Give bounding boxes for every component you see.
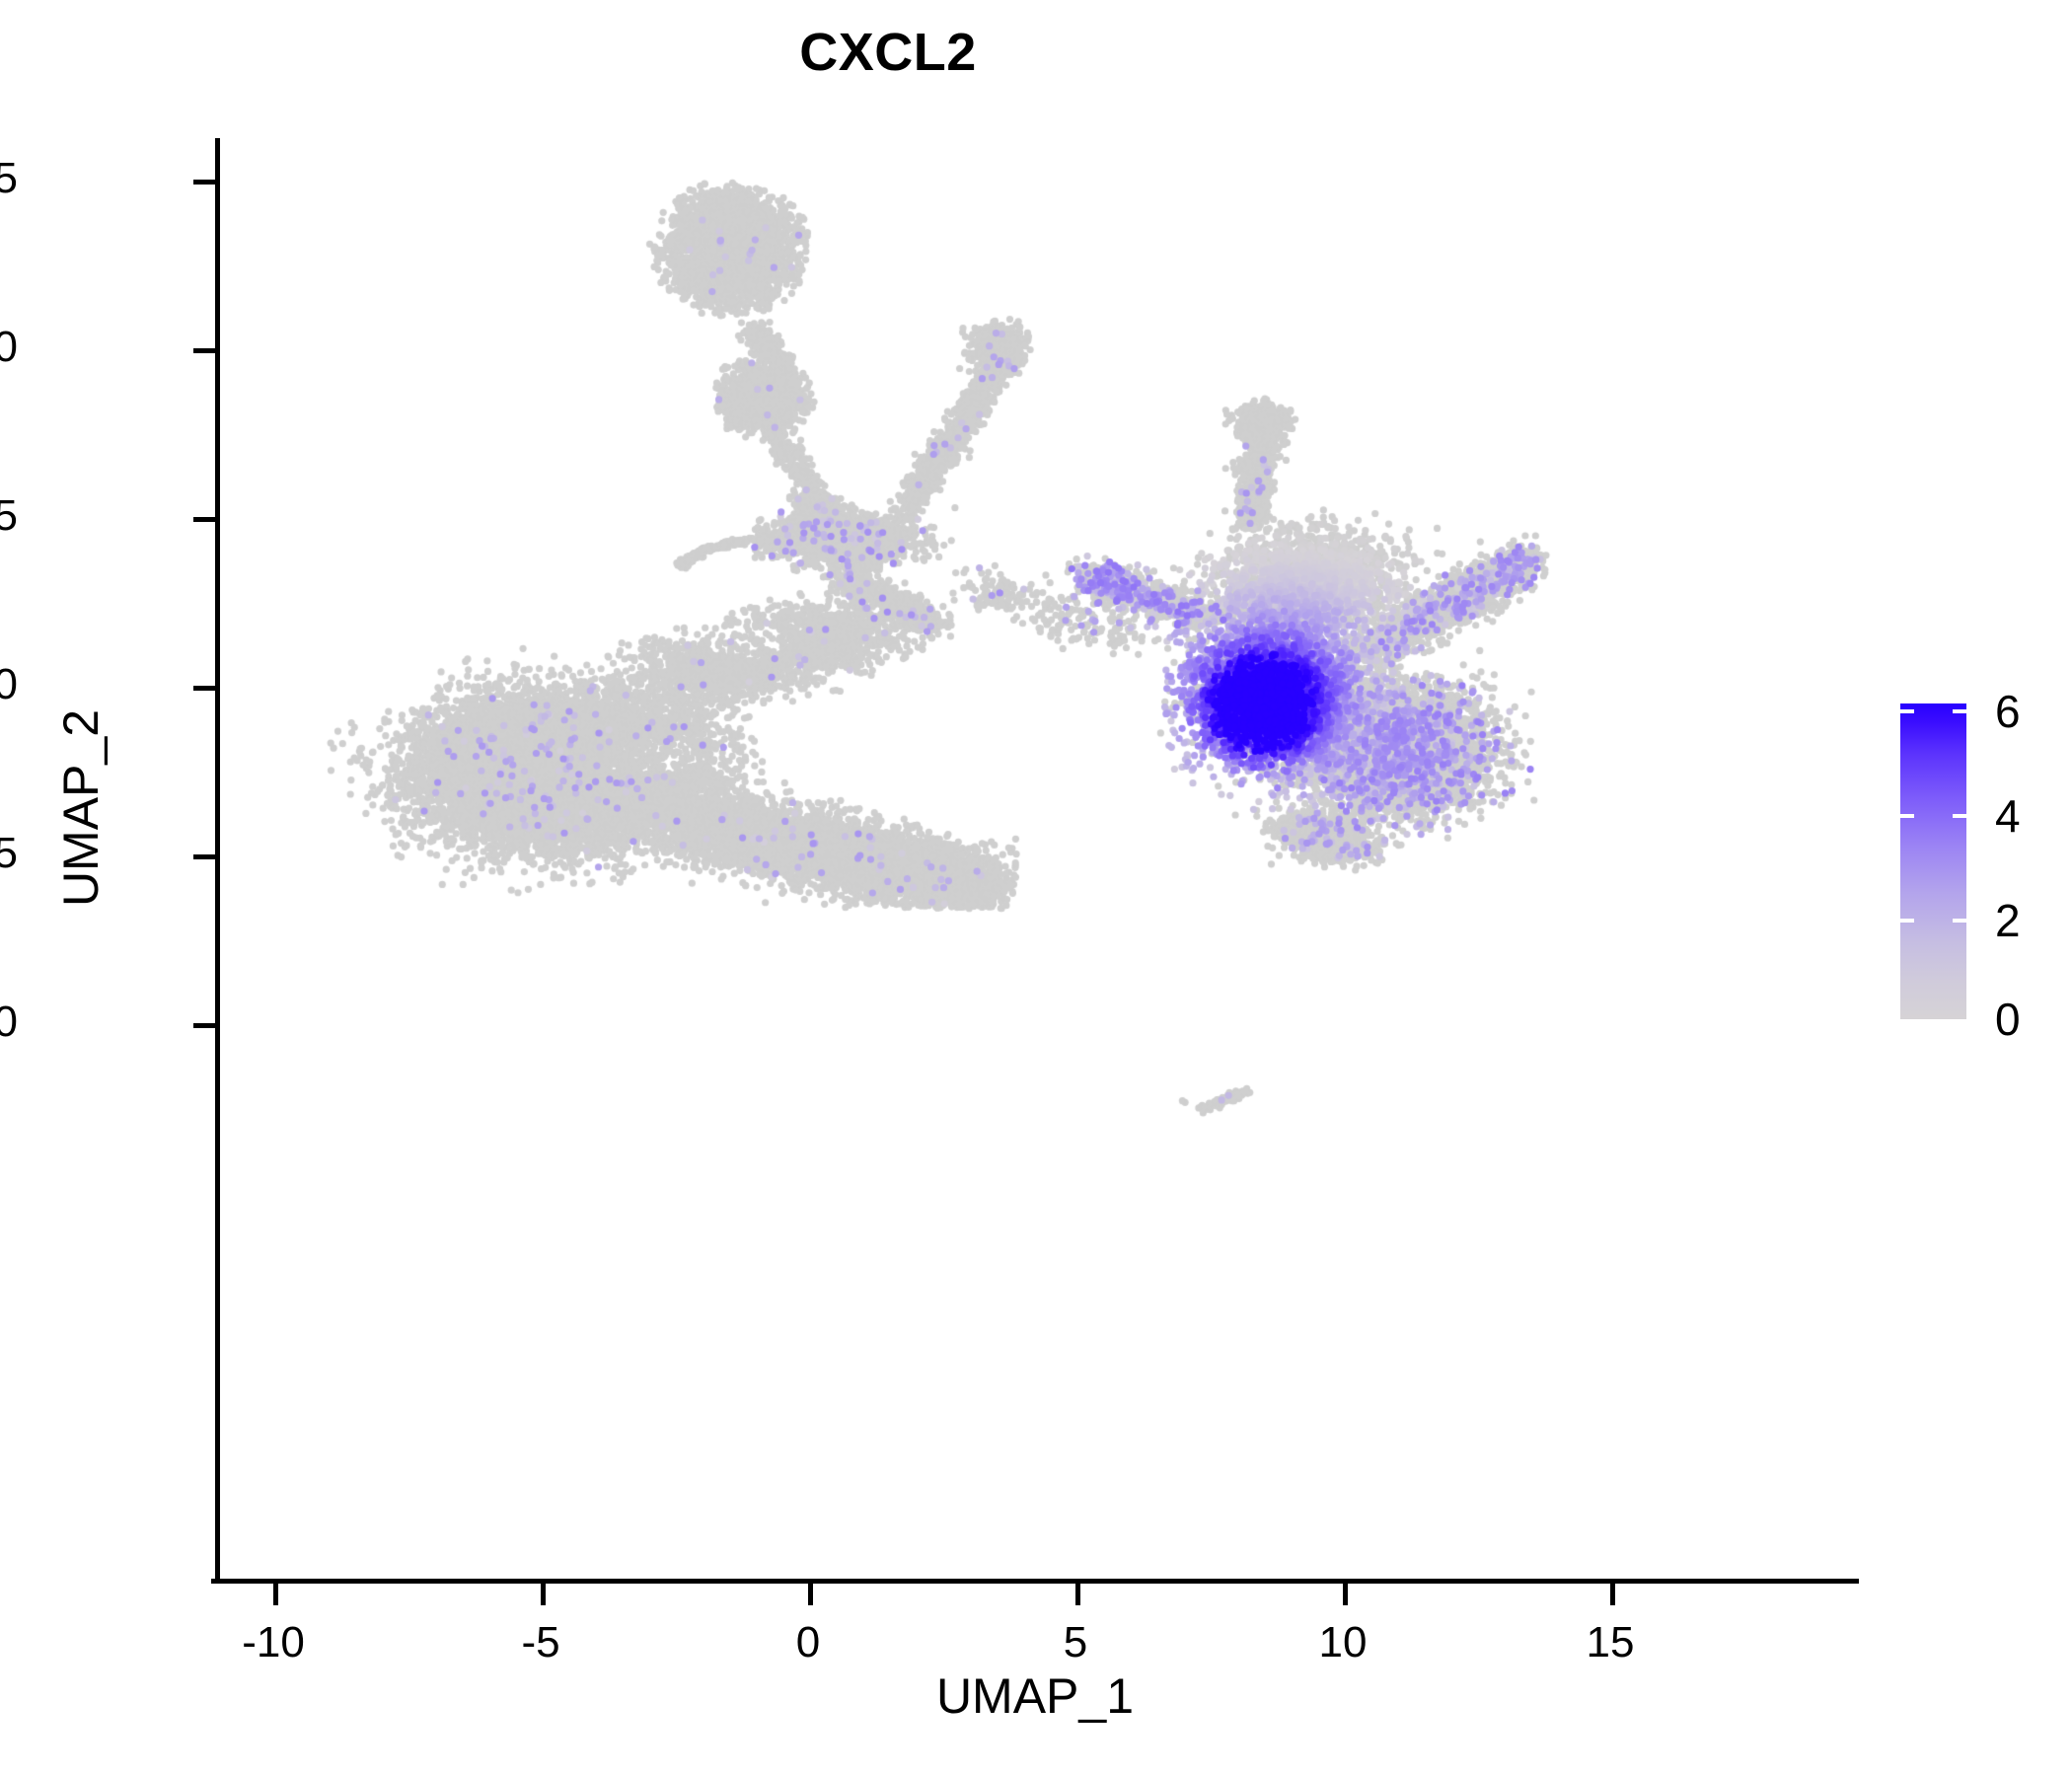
- y-tick-label-5: 5: [0, 491, 18, 541]
- x-tick-0: [808, 1584, 813, 1605]
- colorbar-label-2: 2: [1995, 894, 2021, 947]
- colorbar-label-4: 4: [1995, 789, 2021, 843]
- umap-feature-plot: CXCL2 15 10 5 0 -5 -10 -10 -5 0 5 10 15 …: [0, 0, 2072, 1776]
- x-tick-label-0: 0: [729, 1618, 887, 1667]
- plot-area: [217, 138, 1855, 1582]
- y-tick-label-15: 15: [0, 154, 18, 203]
- page-title: CXCL2: [0, 22, 1776, 83]
- y-axis-title: UMAP_2: [52, 611, 110, 1005]
- y-tick-neg10: [193, 1023, 215, 1028]
- y-axis-line: [215, 138, 220, 1584]
- x-tick-label-neg5: -5: [462, 1618, 620, 1667]
- x-tick-label-5: 5: [997, 1618, 1154, 1667]
- x-tick-neg10: [273, 1584, 278, 1605]
- x-tick-10: [1343, 1584, 1348, 1605]
- y-tick-0: [193, 686, 215, 691]
- colorbar-tick-6-right: [1953, 709, 1966, 713]
- colorbar-legend: 6 4 2 0: [1900, 703, 1966, 1019]
- colorbar-tick-6-left: [1900, 709, 1914, 713]
- y-tick-15: [193, 180, 215, 185]
- x-tick-neg5: [541, 1584, 546, 1605]
- colorbar-label-6: 6: [1995, 685, 2021, 738]
- y-tick-10: [193, 348, 215, 353]
- y-tick-label-0: 0: [0, 660, 18, 709]
- x-tick-5: [1075, 1584, 1080, 1605]
- colorbar-label-0: 0: [1995, 993, 2021, 1046]
- x-tick-label-15: 15: [1531, 1618, 1689, 1667]
- y-tick-5: [193, 517, 215, 522]
- colorbar-gradient: 6 4 2 0: [1900, 703, 1966, 1019]
- colorbar-tick-2-left: [1900, 919, 1914, 923]
- colorbar-tick-4-right: [1953, 814, 1966, 818]
- x-axis-title: UMAP_1: [211, 1667, 1859, 1725]
- colorbar-tick-2-right: [1953, 919, 1966, 923]
- y-tick-label-neg5: -5: [0, 829, 18, 878]
- y-tick-label-neg10: -10: [0, 998, 18, 1047]
- colorbar-tick-4-left: [1900, 814, 1914, 818]
- x-tick-label-neg10: -10: [194, 1618, 352, 1667]
- x-tick-label-10: 10: [1264, 1618, 1422, 1667]
- y-tick-label-10: 10: [0, 323, 18, 372]
- scatter-points-canvas: [217, 138, 1855, 1582]
- y-tick-neg5: [193, 854, 215, 859]
- x-tick-15: [1610, 1584, 1615, 1605]
